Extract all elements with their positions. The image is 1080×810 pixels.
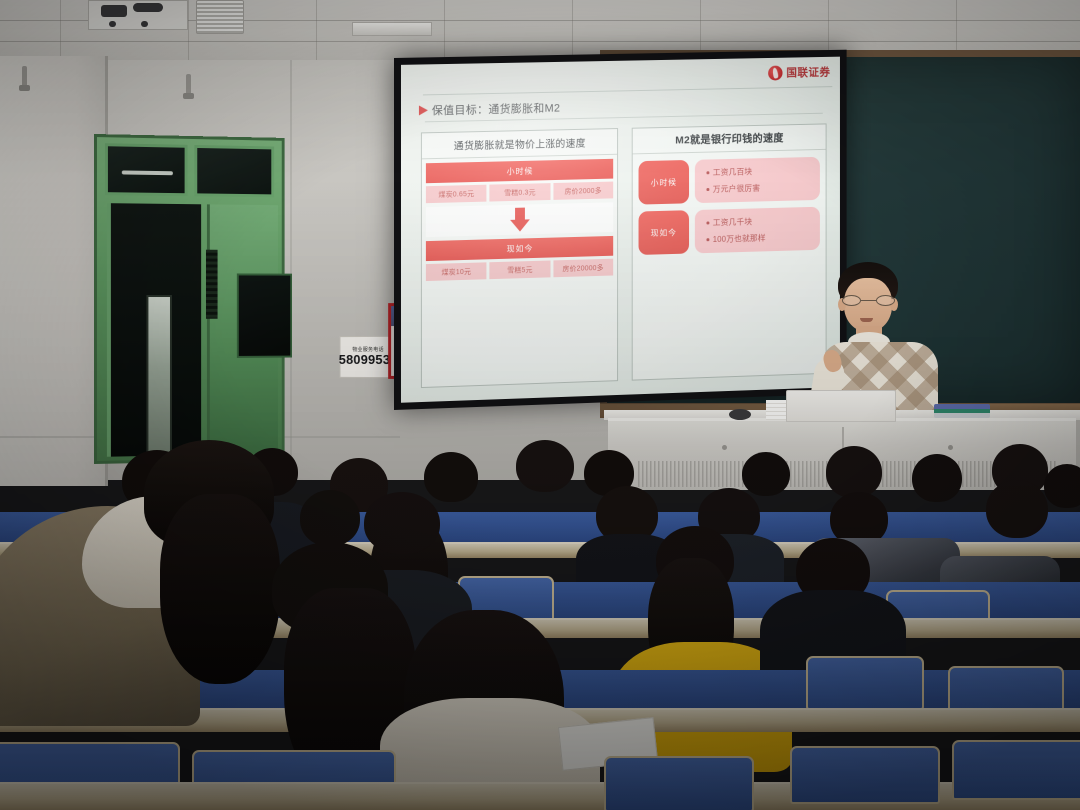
seat[interactable] (604, 756, 754, 810)
list-item: 工资几百块 (706, 165, 812, 178)
lecture-hall-photo: 物业服务电话 58099534 消防责任人 国联证券 保值目标：通货膨胀和M2 (0, 0, 1080, 810)
seat[interactable] (952, 740, 1080, 800)
m2-row-label-now: 现如今 (639, 210, 690, 255)
inflation-panel-header: 通货膨胀就是物价上涨的速度 (422, 129, 617, 159)
m2-panel-header: M2就是银行印钱的速度 (633, 124, 826, 154)
inflation-row-label-now: 现如今 (426, 236, 613, 261)
glasses-icon (842, 295, 895, 306)
projection-screen: 国联证券 保值目标：通货膨胀和M2 通货膨胀就是物价上涨的速度 小时候 煤炭0.… (394, 50, 847, 410)
header-divider (423, 86, 832, 95)
door-leaf[interactable] (207, 204, 278, 454)
door-louver-icon (206, 250, 218, 319)
student-head (424, 452, 478, 502)
m2-bullets-past: 工资几百块 万元户很厉害 (695, 157, 820, 203)
m2-row-now: 现如今 工资几千块 100万也就那样 (639, 207, 820, 255)
laptop (786, 390, 896, 422)
left-wall-panel (0, 56, 108, 486)
inflation-panel: 通货膨胀就是物价上涨的速度 小时候 煤炭0.65元 雪糕0.3元 房价2000多… (421, 128, 618, 388)
student-head (986, 480, 1048, 538)
list-item: 100万也就那样 (706, 231, 812, 245)
student-head (300, 490, 360, 546)
audience-area (0, 430, 1080, 810)
m2-row-label-past: 小时候 (639, 160, 690, 205)
transom-pane-right (194, 145, 274, 197)
ceiling-light-fixture (352, 22, 432, 36)
transom-pane-left (105, 143, 187, 196)
inflation-row-label-past: 小时候 (426, 159, 613, 183)
student-head (912, 454, 962, 502)
down-arrow-icon (510, 207, 530, 231)
slide-title: 保值目标：通货膨胀和M2 (432, 100, 561, 119)
seat[interactable] (806, 656, 924, 710)
table-cell: 煤炭0.65元 (426, 185, 487, 203)
table-cell: 雪糕0.3元 (490, 183, 550, 201)
wall-seam (290, 60, 292, 460)
ceiling-vent-icon (196, 0, 244, 34)
slide-panels: 通货膨胀就是物价上涨的速度 小时候 煤炭0.65元 雪糕0.3元 房价2000多… (421, 123, 827, 388)
list-item: 工资几千块 (706, 215, 812, 229)
table-cell: 雪糕5元 (490, 260, 550, 279)
table-cell: 煤炭10元 (426, 262, 487, 281)
table-cell: 房价20000多 (553, 259, 613, 278)
bullet-text: 工资几千块 (713, 216, 753, 228)
long-hair (160, 494, 280, 684)
title-arrow-icon (419, 105, 428, 115)
m2-row-past: 小时候 工资几百块 万元户很厉害 (639, 157, 820, 205)
bullet-text: 万元户很厉害 (713, 183, 760, 195)
door-window (237, 273, 292, 357)
student-head (826, 446, 882, 498)
classroom-door[interactable] (94, 134, 290, 464)
bullet-text: 工资几百块 (713, 166, 753, 178)
door-frame (94, 134, 285, 464)
slide-title-row: 保值目标：通货膨胀和M2 (419, 100, 560, 119)
door-transom (105, 143, 274, 197)
wall-hook-icon (22, 66, 27, 88)
bullet-text: 100万也就那样 (713, 233, 766, 245)
m2-bullets-now: 工资几千块 100万也就那样 (695, 207, 820, 254)
transition-arrow-zone (426, 202, 613, 237)
books-stack (934, 404, 990, 418)
wall-hook-icon (186, 74, 191, 96)
student-head (364, 492, 440, 554)
door-opening[interactable] (107, 203, 201, 457)
inflation-cells-past: 煤炭0.65元 雪糕0.3元 房价2000多 (426, 182, 613, 204)
flame-logo-icon (768, 65, 782, 80)
student-head (516, 440, 574, 492)
m2-panel: M2就是银行印钱的速度 小时候 工资几百块 万元户很厉害 (632, 123, 827, 380)
seat[interactable] (790, 746, 940, 804)
presenter-mouth (860, 318, 873, 322)
table-cell: 房价2000多 (553, 182, 613, 200)
inflation-cells-now: 煤炭10元 雪糕5元 房价20000多 (426, 259, 613, 281)
student-head (1044, 464, 1080, 508)
student-head (742, 452, 790, 496)
logo-text: 国联证券 (786, 64, 830, 81)
presentation-slide: 国联证券 保值目标：通货膨胀和M2 通货膨胀就是物价上涨的速度 小时候 煤炭0.… (401, 57, 840, 403)
list-item: 万元户很厉害 (706, 181, 812, 194)
projector-mount-icon (88, 0, 188, 30)
company-logo: 国联证券 (768, 64, 830, 81)
mouse-icon (729, 409, 751, 420)
